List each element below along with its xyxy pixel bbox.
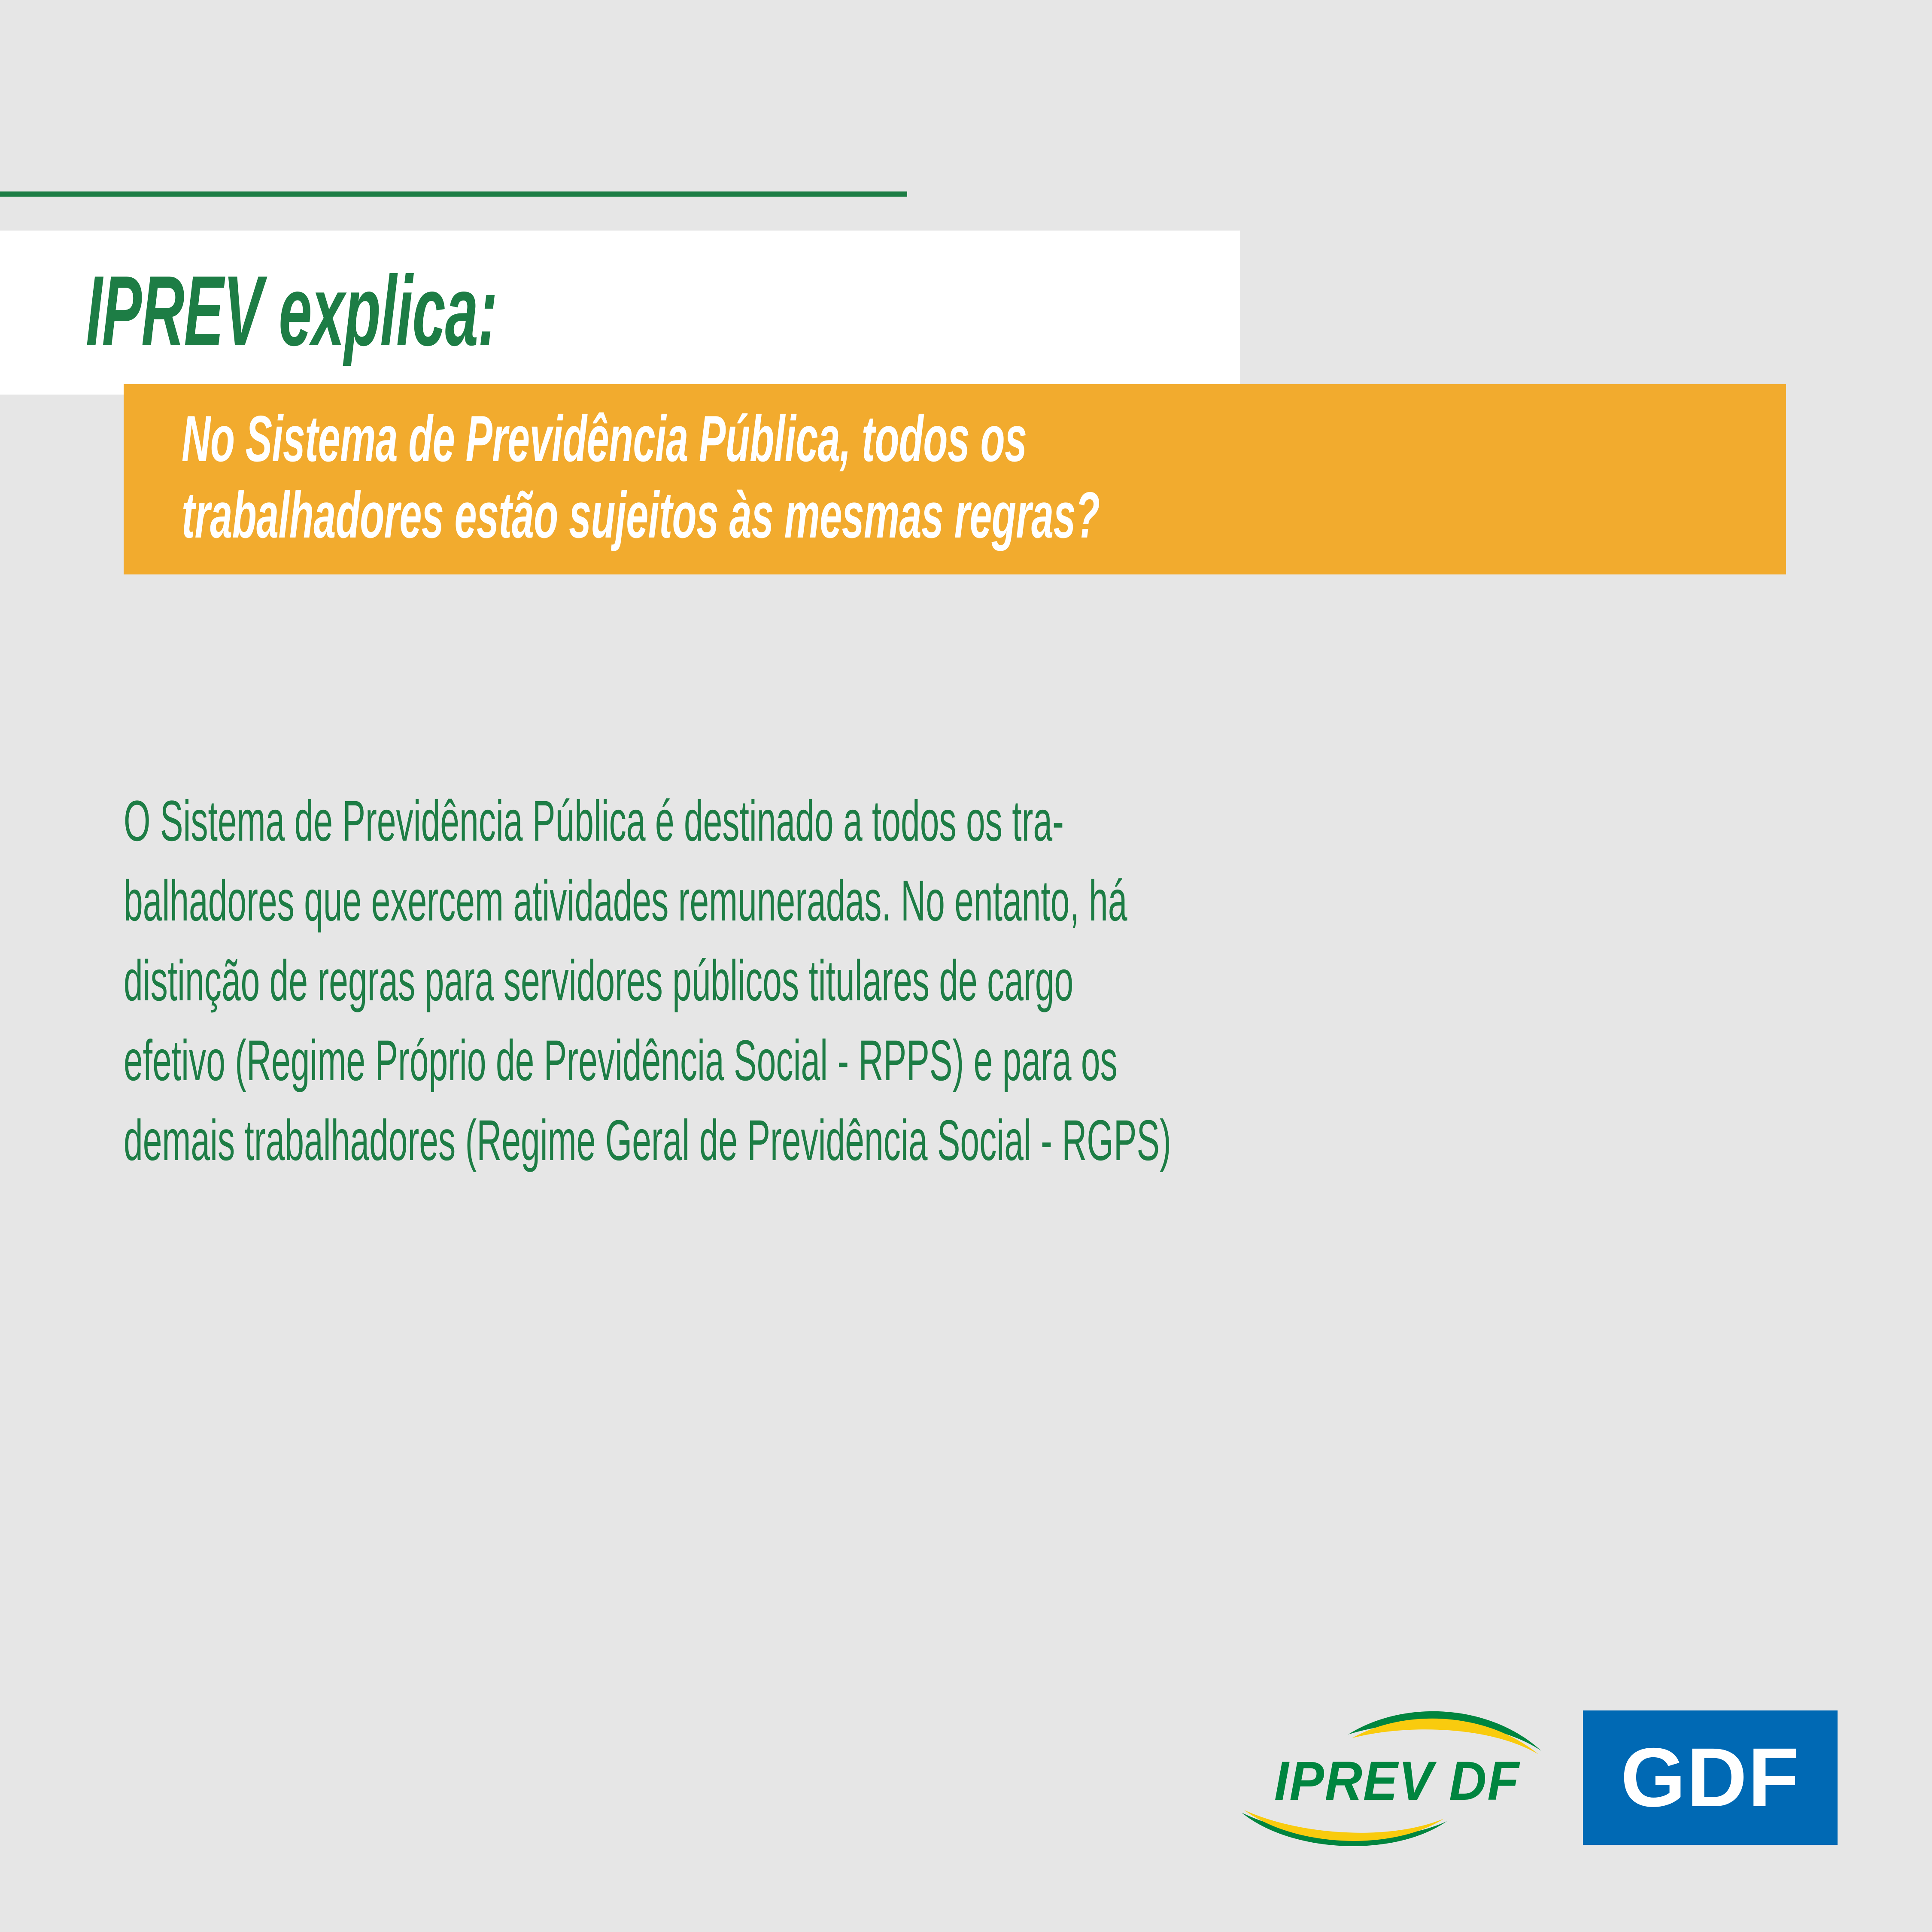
question-text: No Sistema de Previdência Pública, todos…: [182, 401, 1792, 553]
body-line-4: efetivo (Regime Próprio de Previdência S…: [124, 1021, 1803, 1101]
body-line-1: O Sistema de Previdência Pública é desti…: [124, 781, 1803, 861]
gdf-logo-box: GDF: [1583, 1710, 1838, 1845]
gdf-logo-text: GDF: [1583, 1710, 1838, 1845]
kicker-title: IPREV explica:: [86, 240, 730, 382]
question-line-2: trabalhadores estão sujeitos às mesmas r…: [182, 477, 1792, 553]
body-copy: O Sistema de Previdência Pública é desti…: [124, 781, 1803, 1181]
question-line-1: No Sistema de Previdência Pública, todos…: [182, 401, 1792, 477]
logo-swoosh-bottom-icon: [1242, 1810, 1447, 1846]
body-line-5: demais trabalhadores (Regime Geral de Pr…: [124, 1101, 1803, 1181]
footer-logos: IPREV DF GDF: [1224, 1687, 1842, 1868]
header-green-rule: [0, 191, 907, 197]
body-line-2: balhadores que exercem atividades remune…: [124, 861, 1803, 941]
iprev-logo-wordmark: IPREV DF: [1274, 1750, 1520, 1812]
iprev-df-logo: IPREV DF: [1224, 1687, 1576, 1868]
body-line-3: distinção de regras para servidores públ…: [124, 941, 1803, 1021]
logo-swoosh-top-icon: [1348, 1711, 1541, 1754]
question-orange-band: No Sistema de Previdência Pública, todos…: [124, 384, 1786, 574]
